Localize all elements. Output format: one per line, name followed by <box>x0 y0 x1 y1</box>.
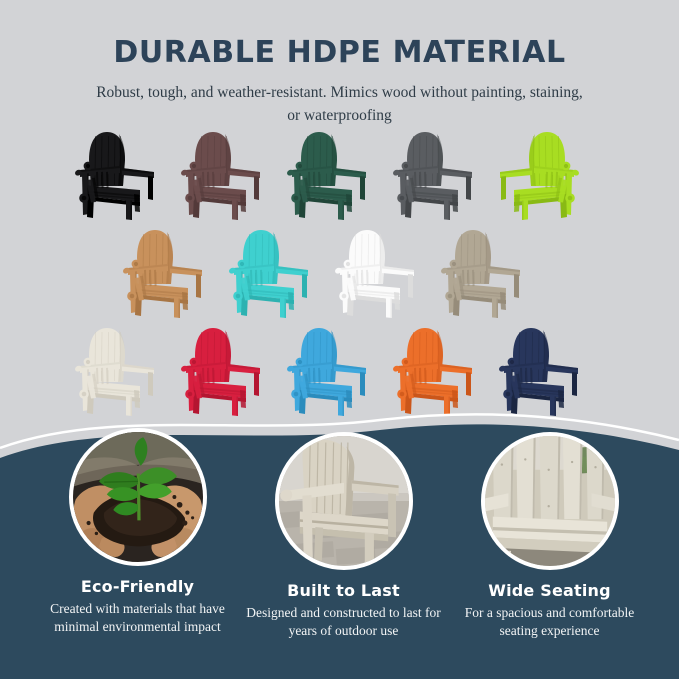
chair-swatch-teak[interactable] <box>110 226 216 322</box>
feature-wide-seating: Wide SeatingFor a spacious and comfortab… <box>442 432 657 640</box>
chair-swatch-brown[interactable] <box>168 128 274 224</box>
chair-swatch-gray-beige[interactable] <box>428 226 534 322</box>
feature-photo-eco-friendly <box>69 428 207 566</box>
chair-color-grid <box>0 128 679 428</box>
feature-description-wide-seating: For a spacious and comfortable seating e… <box>442 604 657 640</box>
chair-swatch-gray[interactable] <box>380 128 486 224</box>
feature-title-built-to-last: Built to Last <box>236 581 451 600</box>
feature-built-to-last: Built to LastDesigned and constructed to… <box>236 432 451 640</box>
header: DURABLE HDPE MATERIAL Robust, tough, and… <box>0 0 679 128</box>
feature-eco-friendly: Eco-FriendlyCreated with materials that … <box>30 428 245 636</box>
chair-swatch-lime-green[interactable] <box>486 128 592 224</box>
feature-description-eco-friendly: Created with materials that have minimal… <box>30 600 245 636</box>
feature-photo-built-to-last <box>275 432 413 570</box>
chair-swatch-turquoise[interactable] <box>216 226 322 322</box>
chair-swatch-black[interactable] <box>62 128 168 224</box>
feature-title-eco-friendly: Eco-Friendly <box>30 577 245 596</box>
chair-swatch-dark-green[interactable] <box>274 128 380 224</box>
page-subtitle: Robust, tough, and weather-resistant. Mi… <box>0 81 679 128</box>
feature-description-built-to-last: Designed and constructed to last for yea… <box>236 604 451 640</box>
chair-swatch-white[interactable] <box>322 226 428 322</box>
feature-title-wide-seating: Wide Seating <box>442 581 657 600</box>
page-title: DURABLE HDPE MATERIAL <box>0 38 679 68</box>
feature-photo-wide-seating <box>481 432 619 570</box>
infographic-canvas: DURABLE HDPE MATERIAL Robust, tough, and… <box>0 0 679 679</box>
